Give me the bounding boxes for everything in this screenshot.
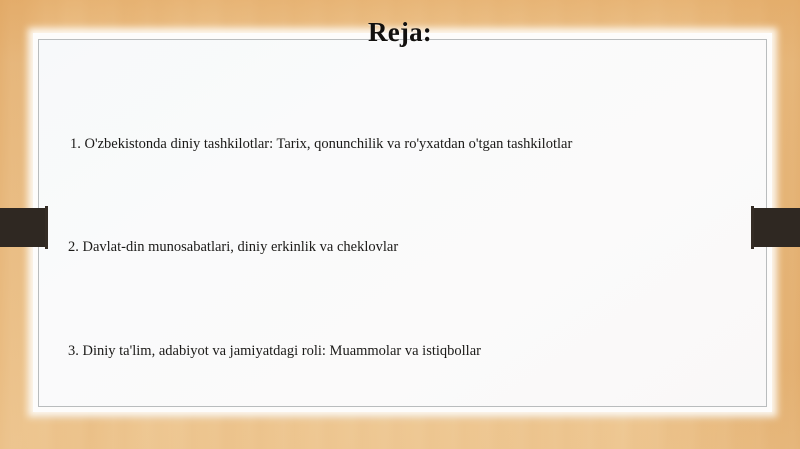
decorative-ribbon-left — [0, 208, 48, 247]
list-item: 3. Diniy ta'lim, adabiyot va jamiyatdagi… — [68, 341, 481, 361]
content-frame: 1. O'zbekistonda diniy tashkilotlar: Tar… — [33, 33, 772, 412]
agenda-list: 1. O'zbekistonda diniy tashkilotlar: Tar… — [39, 40, 778, 419]
decorative-ribbon-right — [751, 208, 800, 247]
presentation-slide: 1. O'zbekistonda diniy tashkilotlar: Tar… — [0, 0, 800, 449]
page-title: Reja: — [0, 17, 800, 47]
list-item: 1. O'zbekistonda diniy tashkilotlar: Tar… — [70, 134, 572, 154]
list-item: 2. Davlat-din munosabatlari, diniy erkin… — [68, 237, 398, 257]
content-panel: 1. O'zbekistonda diniy tashkilotlar: Tar… — [38, 39, 767, 407]
